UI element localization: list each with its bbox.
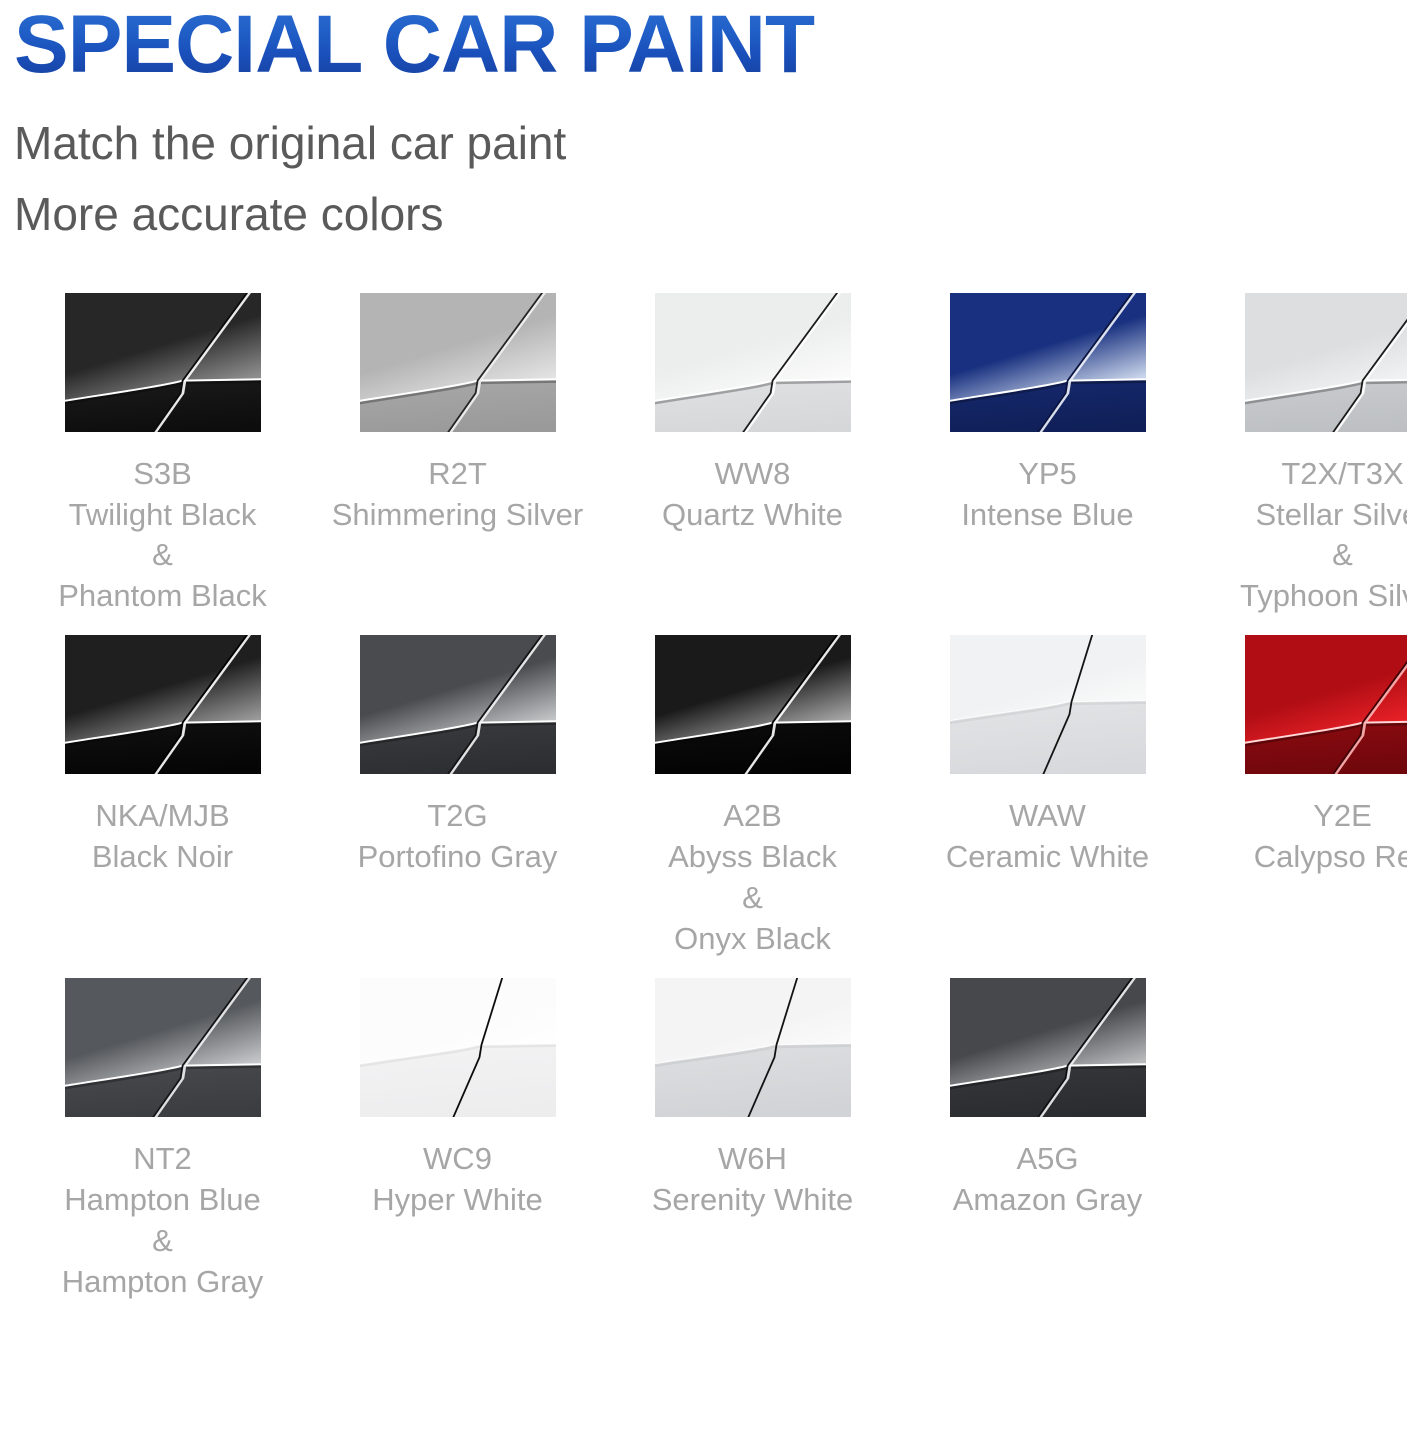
- paint-name: Abyss Black: [605, 837, 900, 878]
- page-title: SPECIAL CAR PAINT: [14, 0, 1407, 86]
- paint-swatch-cell-waw[interactable]: WAWCeramic White: [900, 635, 1195, 878]
- swatch-image-wrap: [655, 635, 851, 774]
- paint-swatch-cell-ww8[interactable]: WW8Quartz White: [605, 293, 900, 536]
- swatch-image-wrap: [65, 978, 261, 1117]
- paint-name: Portofino Gray: [310, 837, 605, 878]
- paint-swatch-cell-y2e[interactable]: Y2ECalypso Red: [1195, 635, 1407, 878]
- car-panel-image: [360, 635, 556, 774]
- paint-code: NT2: [15, 1139, 310, 1180]
- swatch-image-wrap: [360, 293, 556, 432]
- paint-swatch-cell-a5g[interactable]: A5GAmazon Gray: [900, 978, 1195, 1221]
- paint-name: Serenity White: [605, 1180, 900, 1221]
- paint-name: Hampton Blue: [15, 1180, 310, 1221]
- paint-name-separator: &: [1195, 535, 1407, 576]
- paint-name-separator: &: [605, 878, 900, 919]
- swatch-image-wrap: [65, 635, 261, 774]
- swatch-image-wrap: [1245, 293, 1407, 432]
- swatch-image-wrap: [1245, 635, 1407, 774]
- paint-name-alt: Phantom Black: [15, 576, 310, 617]
- paint-name-alt: Onyx Black: [605, 919, 900, 960]
- swatch-caption: A5GAmazon Gray: [900, 1139, 1195, 1221]
- swatch-image-wrap: [950, 978, 1146, 1117]
- paint-swatch-cell-w6h[interactable]: W6HSerenity White: [605, 978, 900, 1221]
- paint-row: NKA/MJBBlack NoirT2GPortofino GrayA2BAby…: [15, 635, 1407, 960]
- swatch-caption: NKA/MJBBlack Noir: [15, 796, 310, 878]
- swatch-caption: WC9Hyper White: [310, 1139, 605, 1221]
- paint-code: R2T: [310, 454, 605, 495]
- paint-name-separator: &: [15, 535, 310, 576]
- swatch-caption: NT2Hampton Blue&Hampton Gray: [15, 1139, 310, 1303]
- paint-name: Stellar Silver: [1195, 495, 1407, 536]
- car-panel-image: [655, 293, 851, 432]
- paint-name: Quartz White: [605, 495, 900, 536]
- paint-name: Shimmering Silver: [310, 495, 605, 536]
- paint-swatch-cell-t2x-t3x[interactable]: T2X/T3XStellar Silver&Typhoon Silver: [1195, 293, 1407, 618]
- car-panel-image: [360, 978, 556, 1117]
- paint-name: Black Noir: [15, 837, 310, 878]
- paint-code: Y2E: [1195, 796, 1407, 837]
- swatch-caption: YP5Intense Blue: [900, 454, 1195, 536]
- paint-name-alt: Typhoon Silver: [1195, 576, 1407, 617]
- car-panel-image: [950, 293, 1146, 432]
- paint-swatch-cell-nka-mjb[interactable]: NKA/MJBBlack Noir: [15, 635, 310, 878]
- swatch-caption: Y2ECalypso Red: [1195, 796, 1407, 878]
- paint-code: A5G: [900, 1139, 1195, 1180]
- paint-swatch-cell-r2t[interactable]: R2TShimmering Silver: [310, 293, 605, 536]
- page-root: SPECIAL CAR PAINT Match the original car…: [0, 0, 1407, 1431]
- paint-row: NT2Hampton Blue&Hampton GrayWC9Hyper Whi…: [15, 978, 1407, 1303]
- car-panel-image: [65, 635, 261, 774]
- paint-code: S3B: [15, 454, 310, 495]
- paint-swatch-cell-wc9[interactable]: WC9Hyper White: [310, 978, 605, 1221]
- paint-swatch-cell-yp5[interactable]: YP5Intense Blue: [900, 293, 1195, 536]
- swatch-image-wrap: [950, 293, 1146, 432]
- paint-swatch-cell-t2g[interactable]: T2GPortofino Gray: [310, 635, 605, 878]
- paint-name: Ceramic White: [900, 837, 1195, 878]
- swatch-caption: T2GPortofino Gray: [310, 796, 605, 878]
- swatch-image-wrap: [655, 293, 851, 432]
- swatch-caption: A2BAbyss Black&Onyx Black: [605, 796, 900, 960]
- paint-swatch-grid: S3BTwilight Black&Phantom BlackR2TShimme…: [0, 293, 1407, 1303]
- car-panel-image: [360, 293, 556, 432]
- car-panel-image: [655, 978, 851, 1117]
- swatch-image-wrap: [360, 635, 556, 774]
- paint-name: Calypso Red: [1195, 837, 1407, 878]
- car-panel-image: [1245, 293, 1407, 432]
- car-panel-image: [655, 635, 851, 774]
- paint-name: Amazon Gray: [900, 1180, 1195, 1221]
- swatch-caption: R2TShimmering Silver: [310, 454, 605, 536]
- car-panel-image: [65, 293, 261, 432]
- paint-code: A2B: [605, 796, 900, 837]
- swatch-image-wrap: [950, 635, 1146, 774]
- page-subtitle: Match the original car paint More accura…: [14, 108, 1407, 251]
- paint-name: Intense Blue: [900, 495, 1195, 536]
- swatch-image-wrap: [655, 978, 851, 1117]
- paint-code: T2X/T3X: [1195, 454, 1407, 495]
- swatch-caption: T2X/T3XStellar Silver&Typhoon Silver: [1195, 454, 1407, 618]
- paint-code: W6H: [605, 1139, 900, 1180]
- car-panel-image: [1245, 635, 1407, 774]
- paint-name: Hyper White: [310, 1180, 605, 1221]
- paint-swatch-cell-a2b[interactable]: A2BAbyss Black&Onyx Black: [605, 635, 900, 960]
- swatch-caption: WW8Quartz White: [605, 454, 900, 536]
- paint-name-alt: Hampton Gray: [15, 1262, 310, 1303]
- paint-code: WW8: [605, 454, 900, 495]
- swatch-caption: WAWCeramic White: [900, 796, 1195, 878]
- paint-code: WC9: [310, 1139, 605, 1180]
- paint-code: T2G: [310, 796, 605, 837]
- subtitle-line-1: Match the original car paint: [14, 108, 1407, 179]
- car-panel-image: [65, 978, 261, 1117]
- paint-swatch-cell-s3b[interactable]: S3BTwilight Black&Phantom Black: [15, 293, 310, 618]
- paint-name-separator: &: [15, 1221, 310, 1262]
- paint-code: YP5: [900, 454, 1195, 495]
- paint-swatch-cell-nt2[interactable]: NT2Hampton Blue&Hampton Gray: [15, 978, 310, 1303]
- header: SPECIAL CAR PAINT Match the original car…: [0, 0, 1407, 251]
- car-panel-image: [950, 635, 1146, 774]
- car-panel-image: [950, 978, 1146, 1117]
- swatch-caption: S3BTwilight Black&Phantom Black: [15, 454, 310, 618]
- paint-name: Twilight Black: [15, 495, 310, 536]
- paint-code: NKA/MJB: [15, 796, 310, 837]
- paint-code: WAW: [900, 796, 1195, 837]
- paint-row: S3BTwilight Black&Phantom BlackR2TShimme…: [15, 293, 1407, 618]
- swatch-caption: W6HSerenity White: [605, 1139, 900, 1221]
- subtitle-line-2: More accurate colors: [14, 179, 1407, 250]
- swatch-image-wrap: [360, 978, 556, 1117]
- swatch-image-wrap: [65, 293, 261, 432]
